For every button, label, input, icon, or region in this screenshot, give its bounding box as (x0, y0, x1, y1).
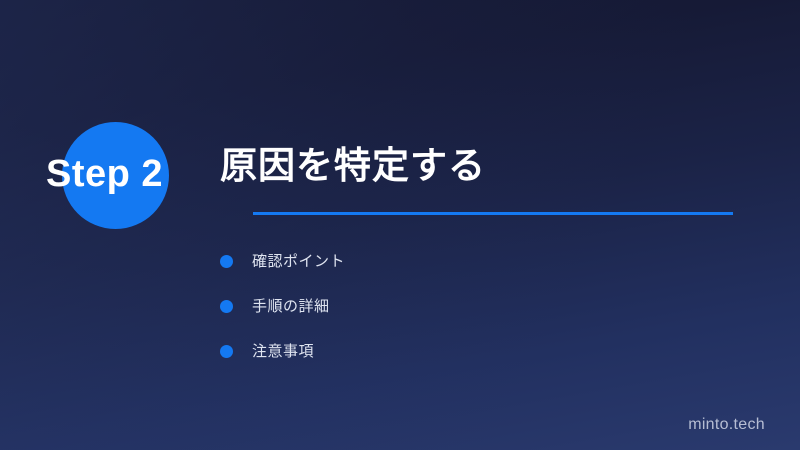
watermark-label: minto.tech (688, 415, 765, 435)
list-item: 注意事項 (220, 329, 766, 374)
slide-content: 原因を特定する 確認ポイント 手順の詳細 注意事項 (220, 140, 766, 374)
bullet-dot-icon (220, 345, 233, 358)
slide-canvas: Step 2 原因を特定する 確認ポイント 手順の詳細 注意事項 minto.t… (0, 0, 800, 450)
list-item: 確認ポイント (220, 239, 766, 284)
list-item: 手順の詳細 (220, 284, 766, 329)
bullet-label: 注意事項 (252, 342, 314, 362)
bullet-dot-icon (220, 255, 233, 268)
bullet-label: 手順の詳細 (252, 297, 330, 317)
step-badge-label: Step 2 (46, 152, 163, 196)
bullet-label: 確認ポイント (252, 252, 345, 272)
title-divider (253, 212, 733, 215)
bullet-list: 確認ポイント 手順の詳細 注意事項 (220, 239, 766, 374)
page-title: 原因を特定する (220, 140, 766, 192)
bullet-dot-icon (220, 300, 233, 313)
